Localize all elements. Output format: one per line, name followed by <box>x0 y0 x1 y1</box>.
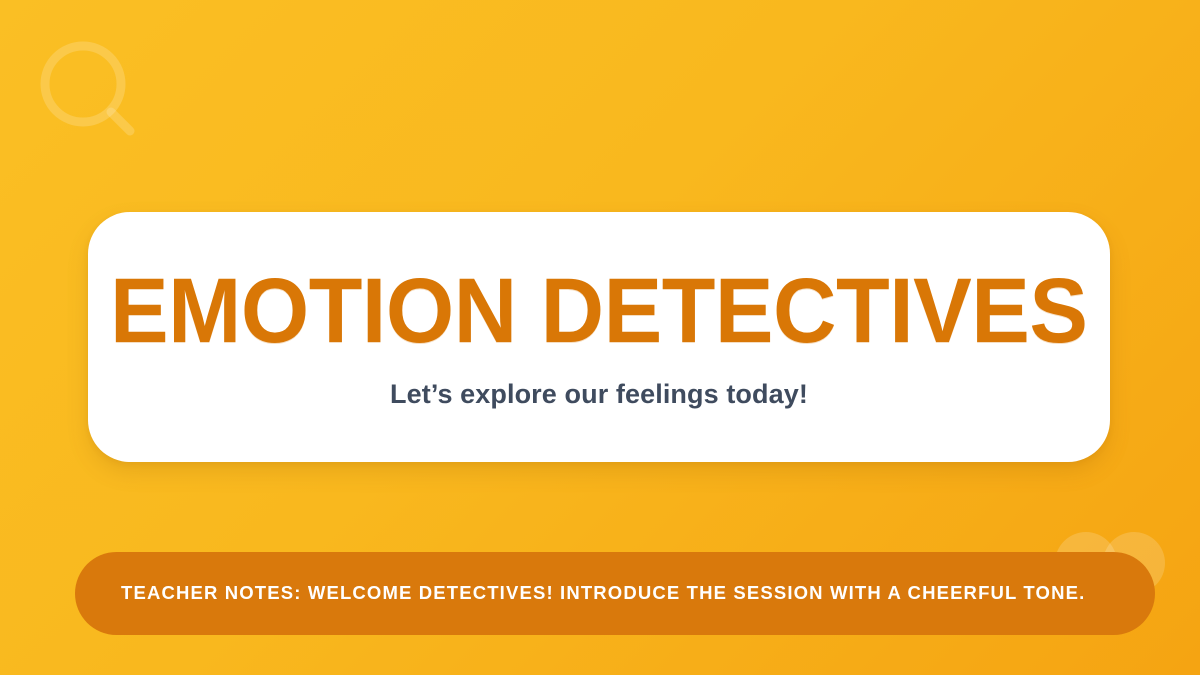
teacher-notes-text: Teacher notes: Welcome detectives! Intro… <box>121 579 1085 608</box>
page-subtitle: Let’s explore our feelings today! <box>390 379 808 410</box>
title-card: EMOTION DETECTIVES Let’s explore our fee… <box>88 212 1110 462</box>
slide-canvas: EMOTION DETECTIVES Let’s explore our fee… <box>0 0 1200 675</box>
page-title: EMOTION DETECTIVES <box>110 265 1087 357</box>
teacher-notes-bar: Teacher notes: Welcome detectives! Intro… <box>75 552 1155 635</box>
search-icon <box>35 38 147 150</box>
